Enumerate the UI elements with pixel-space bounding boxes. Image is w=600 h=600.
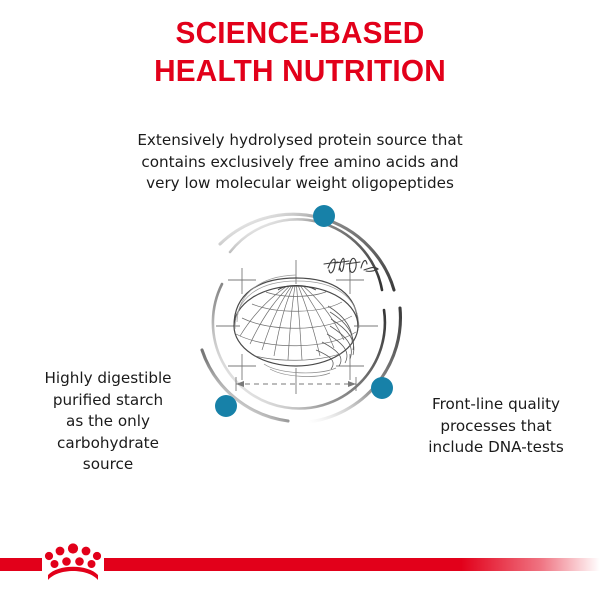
page-title-line-1: SCIENCE-BASED xyxy=(12,14,588,52)
callout-top-line-1: Extensively hydrolysed protein source th… xyxy=(100,130,500,152)
callout-top-line-3: very low molecular weight oligopeptides xyxy=(100,173,500,195)
footer-bar-left xyxy=(0,558,42,571)
node-top xyxy=(313,205,335,227)
callout-right-line-1: Front-line quality xyxy=(396,394,596,416)
node-right xyxy=(371,377,393,399)
callout-right-line-2: processes that xyxy=(396,416,596,438)
kibble-diagram xyxy=(178,198,418,438)
registration-marks xyxy=(216,260,378,394)
footer-bar-right xyxy=(104,558,600,571)
node-bottom-left xyxy=(215,395,237,417)
kibble-shading xyxy=(316,306,354,369)
callout-top-text: Extensively hydrolysed protein source th… xyxy=(100,130,500,195)
kibble-technical-sketch xyxy=(216,258,378,394)
callout-right-text: Front-line quality processes that includ… xyxy=(396,394,596,459)
callout-right-line-3: include DNA-tests xyxy=(396,437,596,459)
page-title-line-2: HEALTH NUTRITION xyxy=(12,52,588,90)
callout-top-line-2: contains exclusively free amino acids an… xyxy=(100,152,500,174)
callout-left-line-5: source xyxy=(8,454,208,476)
kibble-body xyxy=(234,275,359,376)
page-title: SCIENCE-BASED HEALTH NUTRITION xyxy=(12,14,588,90)
outer-arc-ring xyxy=(202,214,400,422)
royal-canin-crown-logo xyxy=(42,542,104,592)
footer xyxy=(0,530,600,600)
